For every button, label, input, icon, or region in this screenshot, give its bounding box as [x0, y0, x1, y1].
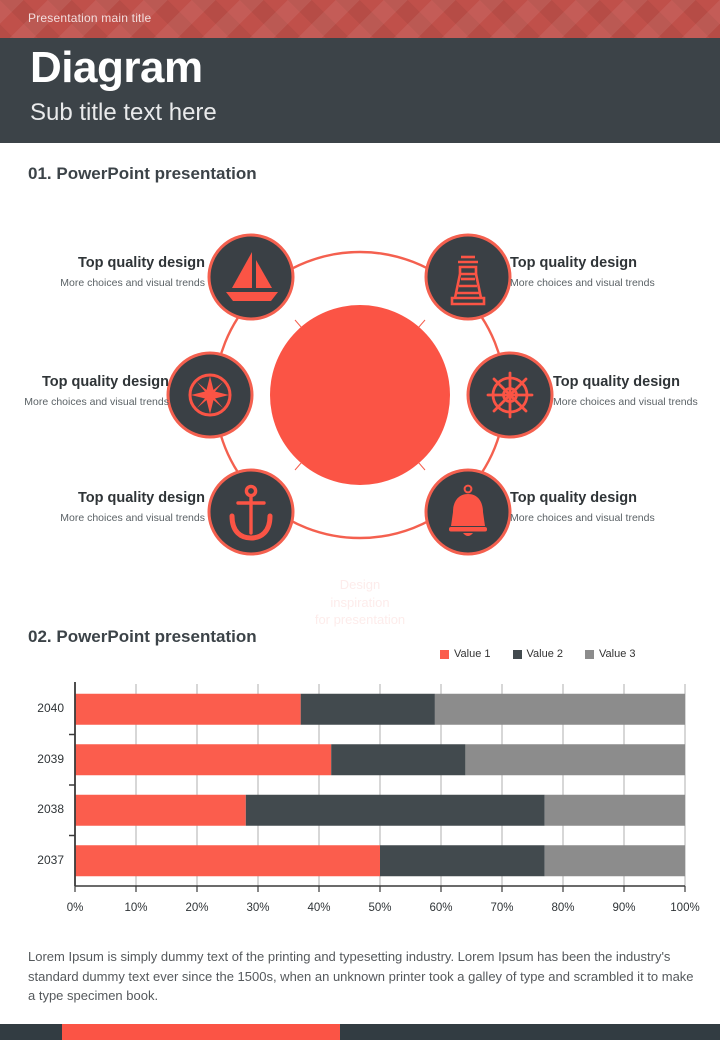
- diagram-node-compass: [168, 353, 252, 437]
- node-title: Top quality design: [0, 374, 169, 391]
- title-band: Diagram Sub title text here: [0, 38, 720, 143]
- node-desc: More choices and visual trends: [20, 276, 205, 290]
- footer-accent: [62, 1024, 340, 1040]
- legend-swatch-value-1: [440, 650, 449, 659]
- diagram-node-anchor: [209, 470, 293, 554]
- top-pattern-band: Presentation main title: [0, 0, 720, 38]
- node-title: Top quality design: [553, 374, 720, 391]
- node-label-bottom-left: Top quality design More choices and visu…: [20, 490, 205, 525]
- center-title: Visual trends: [270, 550, 450, 570]
- page-title: Diagram: [30, 46, 203, 90]
- node-desc: More choices and visual trends: [0, 395, 169, 409]
- stacked-bar-chart: 20402039203820370%10%20%30%40%50%60%70%8…: [0, 676, 720, 921]
- chart-xtick-label: 60%: [421, 902, 461, 914]
- node-title: Top quality design: [20, 490, 205, 507]
- node-title: Top quality design: [20, 255, 205, 272]
- legend-label-value-1: Value 1: [454, 648, 491, 660]
- legend-label-value-3: Value 3: [599, 648, 636, 660]
- legend-swatch-value-3: [585, 650, 594, 659]
- chart-xtick-label: 30%: [238, 902, 278, 914]
- presentation-main-title: Presentation main title: [28, 11, 151, 25]
- diagram-node-ship-wheel: [468, 353, 552, 437]
- legend-label-value-2: Value 2: [527, 648, 564, 660]
- node-desc: More choices and visual trends: [20, 511, 205, 525]
- diagram-node-sailboat: [209, 235, 293, 319]
- body-paragraph: Lorem Ipsum is simply dummy text of the …: [28, 947, 694, 1006]
- chart-xtick-label: 100%: [665, 902, 705, 914]
- node-title: Top quality design: [510, 490, 695, 507]
- node-label-middle-left: Top quality design More choices and visu…: [0, 374, 169, 409]
- node-label-top-right: Top quality design More choices and visu…: [510, 255, 695, 290]
- chart-xtick-label: 90%: [604, 902, 644, 914]
- chart-xtick-label: 0%: [55, 902, 95, 914]
- legend-item-value-1[interactable]: Value 1: [440, 648, 491, 660]
- chart-category-label: 2038: [8, 802, 64, 816]
- node-label-middle-right: Top quality design More choices and visu…: [553, 374, 720, 409]
- page-subtitle: Sub title text here: [30, 99, 217, 127]
- node-desc: More choices and visual trends: [510, 511, 695, 525]
- ship-wheel-icon: [488, 373, 532, 417]
- center-subtitle-line-1: Design: [278, 576, 442, 594]
- node-desc: More choices and visual trends: [553, 395, 720, 409]
- node-label-top-left: Top quality design More choices and visu…: [20, 255, 205, 290]
- legend-item-value-3[interactable]: Value 3: [585, 648, 636, 660]
- chart-xtick-label: 80%: [543, 902, 583, 914]
- legend-item-value-2[interactable]: Value 2: [513, 648, 564, 660]
- chart-xtick-label: 20%: [177, 902, 217, 914]
- chart-category-label: 2040: [8, 701, 64, 715]
- node-title: Top quality design: [510, 255, 695, 272]
- chart-category-label: 2037: [8, 853, 64, 867]
- node-label-bottom-right: Top quality design More choices and visu…: [510, 490, 695, 525]
- section-heading-two: 02. PowerPoint presentation: [28, 627, 257, 647]
- legend-swatch-value-2: [513, 650, 522, 659]
- node-desc: More choices and visual trends: [510, 276, 695, 290]
- footer-bar: [0, 1024, 720, 1040]
- chart-legend: Value 1 Value 2 Value 3: [440, 648, 636, 660]
- chart-xtick-label: 40%: [299, 902, 339, 914]
- compass-icon: [190, 375, 230, 415]
- chart-xtick-label: 10%: [116, 902, 156, 914]
- circular-diagram: Visual trends Design inspiration for pre…: [0, 200, 720, 590]
- section-heading-one: 01. PowerPoint presentation: [28, 164, 257, 184]
- diagram-node-bell: [426, 470, 510, 554]
- diagram-node-lighthouse: [426, 235, 510, 319]
- chart-xtick-label: 50%: [360, 902, 400, 914]
- center-subtitle-line-3: for presentation: [278, 611, 442, 629]
- chart-xtick-label: 70%: [482, 902, 522, 914]
- slide: Presentation main title Diagram Sub titl…: [0, 0, 720, 1040]
- center-subtitle-line-2: inspiration: [278, 594, 442, 612]
- center-subtitle: Design inspiration for presentation: [278, 576, 442, 629]
- chart-category-label: 2039: [8, 752, 64, 766]
